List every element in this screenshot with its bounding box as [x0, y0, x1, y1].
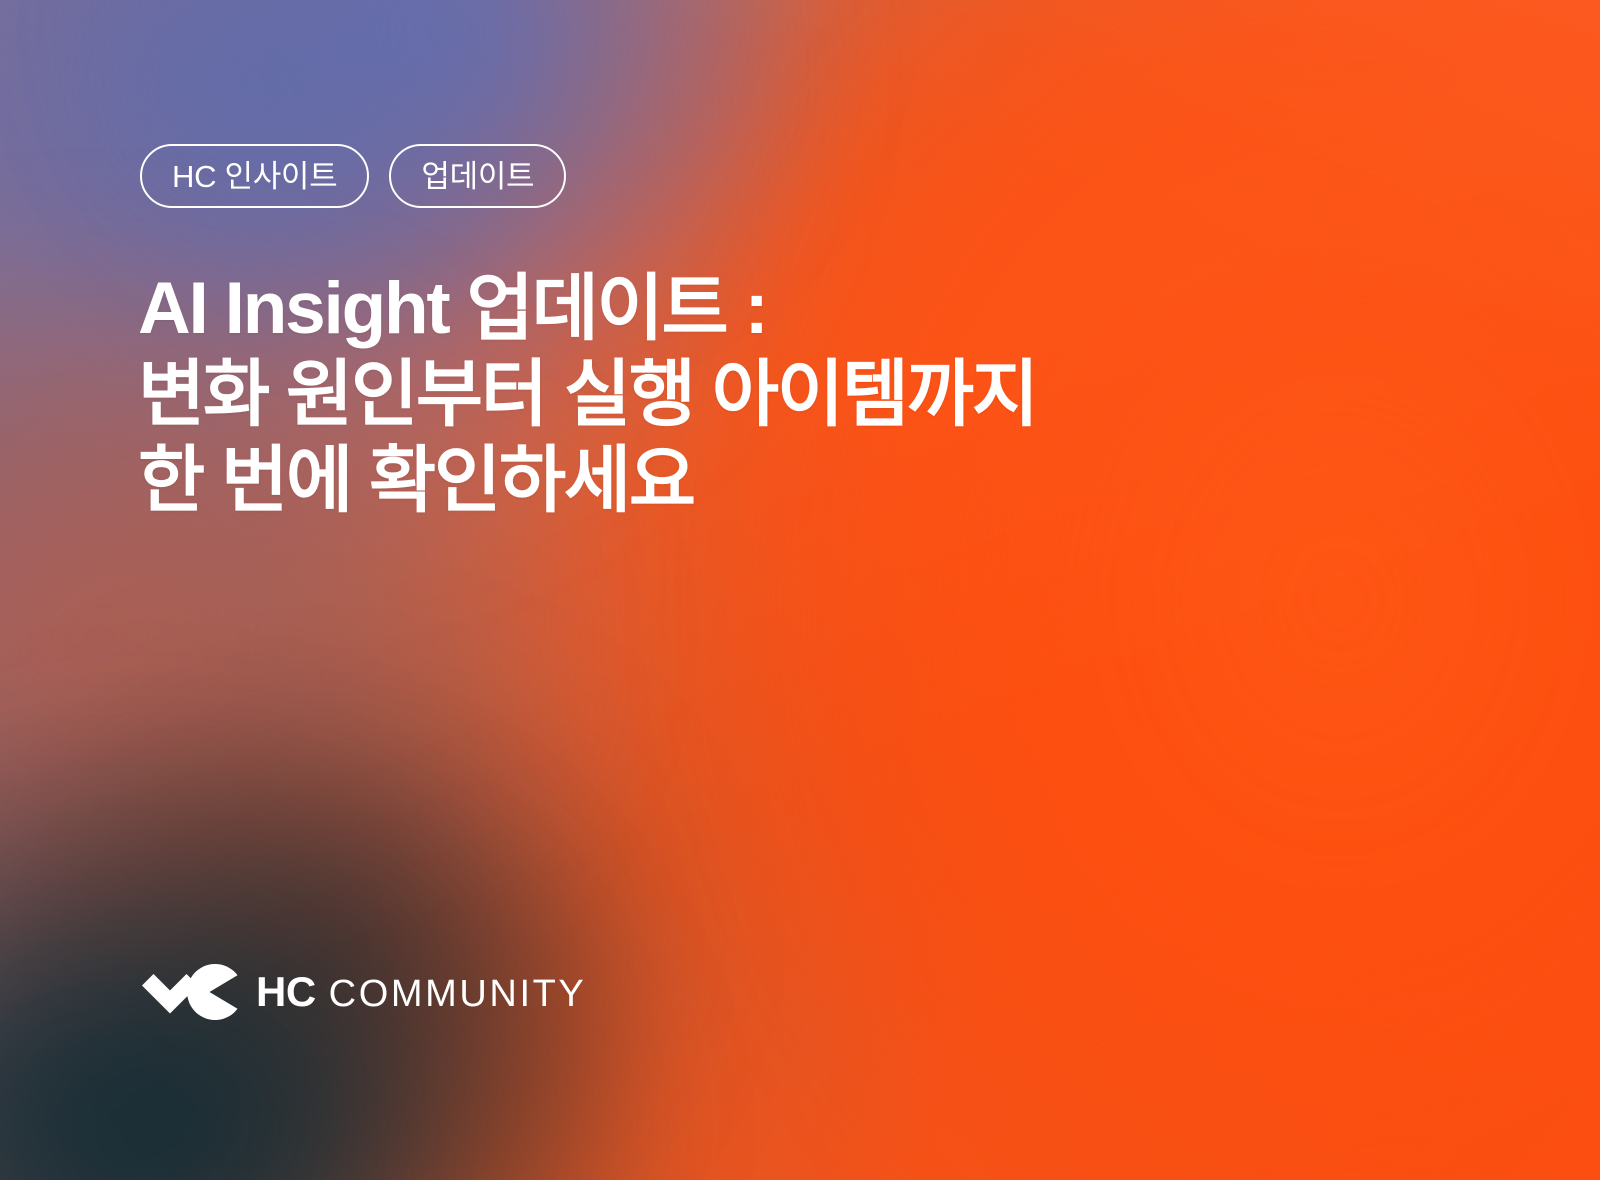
card-content: HC 인사이트 업데이트 AI Insight 업데이트 : 변화 원인부터 실…: [0, 0, 1600, 1180]
brand-community-text: COMMUNITY: [329, 975, 587, 1013]
brand-logo: HC COMMUNITY: [142, 963, 586, 1021]
hc-community-logomark-icon: [142, 963, 238, 1021]
page-title: AI Insight 업데이트 : 변화 원인부터 실행 아이템까지 한 번에 …: [138, 266, 1037, 524]
headline-line-2: 변화 원인부터 실행 아이템까지: [138, 352, 1037, 438]
headline-line-1: AI Insight 업데이트 :: [138, 266, 1037, 352]
hero-card: HC 인사이트 업데이트 AI Insight 업데이트 : 변화 원인부터 실…: [0, 0, 1600, 1180]
badge-hc-insight[interactable]: HC 인사이트: [140, 144, 369, 208]
brand-wordmark: HC COMMUNITY: [256, 971, 586, 1013]
badge-row: HC 인사이트 업데이트: [140, 144, 566, 208]
brand-hc-text: HC: [256, 971, 316, 1013]
headline-line-3: 한 번에 확인하세요: [138, 438, 1037, 524]
badge-update[interactable]: 업데이트: [389, 144, 566, 208]
